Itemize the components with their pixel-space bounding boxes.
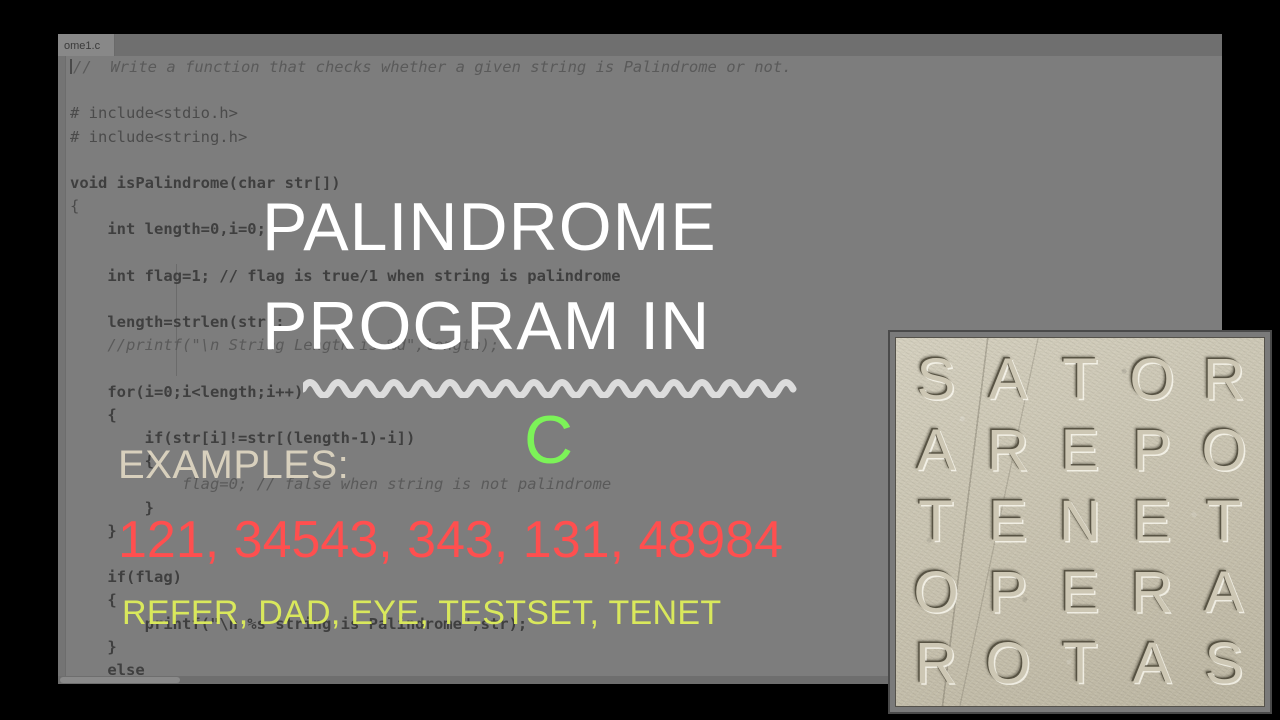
code-line-text: # include<string.h>	[70, 128, 247, 146]
code-line-text: {	[70, 591, 117, 609]
sator-letter: T	[1206, 493, 1241, 551]
sator-letter: O	[985, 635, 1030, 693]
sator-row: T E N E T	[900, 493, 1260, 551]
sator-letter: N	[1059, 493, 1101, 551]
sator-square-photo-frame: S A T O R A R E P O T E N E	[888, 330, 1272, 714]
sator-letter: S	[1205, 635, 1244, 693]
sator-letter: R	[1203, 351, 1245, 409]
sator-row: R O T A S	[900, 635, 1260, 693]
sator-letter: A	[1133, 635, 1172, 693]
title-line-2: Program in	[262, 277, 862, 376]
sator-row: A R E P O	[900, 422, 1260, 480]
sator-letter: E	[1061, 564, 1100, 622]
examples-numeric-list: 121, 34543, 343, 131, 48984	[118, 510, 783, 570]
wavy-underline-icon	[303, 372, 801, 398]
sator-letter: O	[1201, 422, 1246, 480]
sator-letter: T	[1062, 635, 1097, 693]
code-line	[70, 149, 1222, 172]
sator-square-photo: S A T O R A R E P O T E N E	[895, 337, 1265, 707]
code-line-text: if(flag)	[70, 568, 182, 586]
code-line-text: }	[70, 522, 117, 540]
sator-letter: O	[1129, 351, 1174, 409]
code-line: # include<stdio.h>	[70, 102, 1222, 125]
sator-letter: A	[989, 351, 1028, 409]
code-line-text: for(i=0;i<length;i++)	[70, 383, 303, 401]
editor-titlebar: ome1.c	[58, 34, 1222, 56]
sator-letter: S	[917, 351, 956, 409]
sator-letter: T	[1062, 351, 1097, 409]
sator-letter: E	[989, 493, 1028, 551]
code-line-text: // Write a function that checks whether …	[73, 58, 792, 76]
sator-letter: A	[917, 422, 956, 480]
code-line-text: {	[70, 406, 117, 424]
sator-letter: T	[918, 493, 953, 551]
sator-letter: R	[987, 422, 1029, 480]
sator-letter: A	[1205, 564, 1244, 622]
code-line-text: length=strlen(str);	[70, 313, 285, 331]
sator-letter-grid: S A T O R A R E P O T E N E	[896, 338, 1264, 706]
code-line-text: # include<stdio.h>	[70, 104, 238, 122]
code-line: // Write a function that checks whether …	[70, 56, 1222, 79]
code-line-text: int length=0,i=0;	[70, 220, 266, 238]
code-line-text: }	[70, 638, 117, 656]
sator-letter: P	[989, 564, 1028, 622]
code-line	[70, 79, 1222, 102]
examples-word-list: REFER, DAD, EYE, TESTSET, TENET	[122, 594, 721, 633]
editor-gutter	[58, 56, 66, 676]
code-line-text: {	[70, 197, 79, 215]
text-caret	[70, 59, 72, 74]
page-title: Palindrome Program in	[262, 178, 862, 376]
sator-letter: O	[913, 564, 958, 622]
code-line: # include<string.h>	[70, 126, 1222, 149]
scrollbar-thumb[interactable]	[60, 677, 180, 683]
examples-label: EXAMPLES:	[118, 443, 349, 488]
sator-row: O P E R A	[900, 564, 1260, 622]
sator-letter: P	[1133, 422, 1172, 480]
sator-letter: E	[1061, 422, 1100, 480]
sator-letter: R	[915, 635, 957, 693]
editor-file-tab[interactable]: ome1.c	[58, 34, 115, 56]
thumbnail-canvas: ome1.c // Write a function that checks w…	[0, 0, 1280, 720]
language-letter: C	[524, 404, 573, 476]
sator-letter: R	[1131, 564, 1173, 622]
sator-letter: E	[1133, 493, 1172, 551]
title-line-1: Palindrome	[262, 178, 862, 277]
sator-row: S A T O R	[900, 351, 1260, 409]
